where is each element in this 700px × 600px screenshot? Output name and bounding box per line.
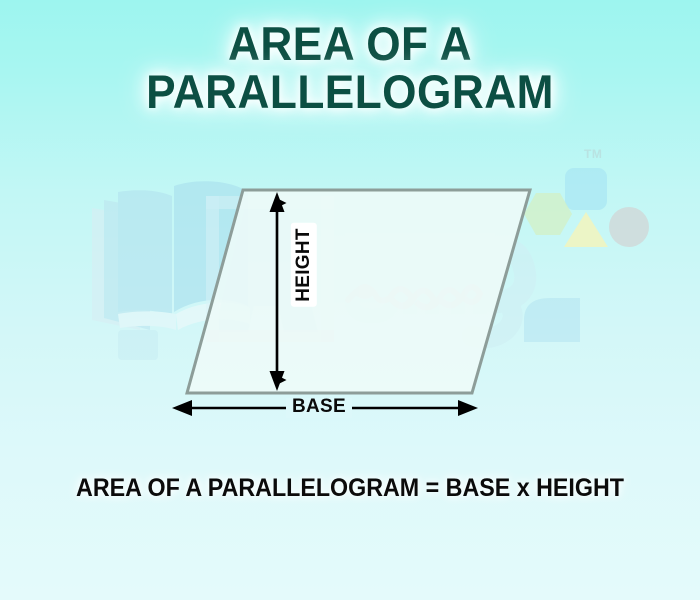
- parallelogram-shape: [187, 190, 530, 393]
- height-label: HEIGHT: [291, 223, 317, 307]
- poster-canvas: AREA OF A PARALLELOGRAM TM: [0, 0, 700, 600]
- formula-text: AREA OF A PARALLELOGRAM = BASE x HEIGHT: [25, 474, 676, 503]
- parallelogram-figure: [0, 0, 700, 600]
- base-label: BASE: [292, 396, 346, 418]
